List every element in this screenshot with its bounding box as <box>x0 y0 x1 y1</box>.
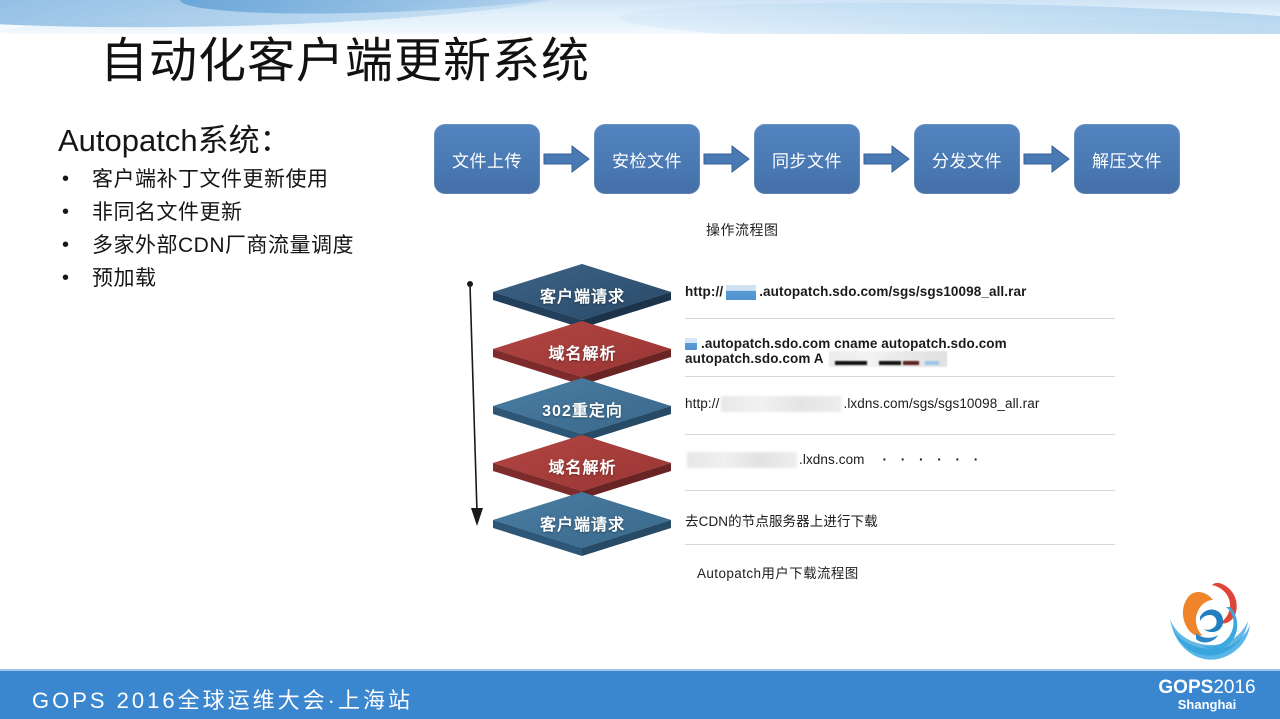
operation-flow-diagram: 文件上传 安检文件 同步文件 分发文件 解压文件 <box>434 124 1180 194</box>
domain-suffix: .lxdns.com <box>799 452 865 467</box>
footer-bar: GOPS 2016全球运维大会·上海站 <box>0 669 1280 719</box>
list-item: • 非同名文件更新 <box>62 196 354 229</box>
footer-conference-title: GOPS 2016全球运维大会·上海站 <box>32 683 413 715</box>
bullet-marker-icon: • <box>62 229 92 262</box>
dns-a-record: autopatch.sdo.com A <box>685 351 827 366</box>
gops-logo-text: GOPS2016 <box>1158 678 1255 697</box>
detail-row-4-line: .lxdns.com· · · · · · <box>685 452 983 468</box>
download-flow-diagram: 客户端请求 域名解析 302重定向 <box>455 262 1155 562</box>
detail-row-3-line: http://.lxdns.com/sgs/sgs10098_all.rar <box>685 396 1039 412</box>
redaction-blur-mixed <box>829 351 947 367</box>
download-diagram-caption: Autopatch用户下载流程图 <box>697 562 859 582</box>
flow-arrow-icon <box>540 142 594 176</box>
detail-row-1: http://.autopatch.sdo.com/sgs/sgs10098_a… <box>685 284 1026 300</box>
detail-row-5-line: 去CDN的节点服务器上进行下载 <box>685 510 878 530</box>
gops-logo-city: Shanghai <box>1178 697 1237 712</box>
list-item: • 多家外部CDN厂商流量调度 <box>62 229 354 262</box>
ellipsis-dots: · · · · · · <box>883 452 984 467</box>
row-separator <box>685 434 1115 435</box>
gops-swirl-icon <box>1160 573 1256 669</box>
dns-cname-record: .autopatch.sdo.com cname autopatch.sdo.c… <box>701 336 1007 351</box>
url-suffix: .autopatch.sdo.com/sgs/sgs10098_all.rar <box>759 284 1026 299</box>
header-decoration-band <box>0 0 1280 34</box>
detail-row-1-line: http://.autopatch.sdo.com/sgs/sgs10098_a… <box>685 284 1026 300</box>
gops-logo-plate: GOPS2016 Shanghai <box>1146 671 1268 719</box>
url-prefix: http:// <box>685 284 723 299</box>
bullet-marker-icon: • <box>62 163 92 196</box>
list-item-label: 客户端补丁文件更新使用 <box>92 163 329 196</box>
detail-row-3: http://.lxdns.com/sgs/sgs10098_all.rar <box>685 396 1039 412</box>
url-suffix: .lxdns.com/sgs/sgs10098_all.rar <box>843 396 1039 411</box>
list-item-label: 预加载 <box>92 262 157 295</box>
bullet-marker-icon: • <box>62 262 92 295</box>
flow-arrow-icon <box>860 142 914 176</box>
sequence-down-arrow-icon <box>459 280 485 533</box>
detail-row-2-line-1: .autopatch.sdo.com cname autopatch.sdo.c… <box>685 336 1007 351</box>
redaction-blur <box>721 396 841 412</box>
row-separator <box>685 376 1115 377</box>
flow-step-5: 解压文件 <box>1074 124 1180 194</box>
detail-row-4: .lxdns.com· · · · · · <box>685 452 983 468</box>
redaction-blue-square <box>685 338 697 350</box>
detail-row-5: 去CDN的节点服务器上进行下载 <box>685 510 878 530</box>
redaction-blue-bar <box>726 285 756 300</box>
list-item: • 预加载 <box>62 262 354 295</box>
gops-logo-name: GOPS <box>1158 677 1213 698</box>
list-item: • 客户端补丁文件更新使用 <box>62 163 354 196</box>
header-swoosh-3 <box>620 0 1280 34</box>
flow-step-1: 文件上传 <box>434 124 540 194</box>
bullet-marker-icon: • <box>62 196 92 229</box>
row-separator <box>685 544 1115 545</box>
redaction-blur <box>687 452 797 468</box>
row-separator <box>685 318 1115 319</box>
stack-layer-5: 客户端请求 <box>485 490 680 556</box>
row-separator <box>685 490 1115 491</box>
layer-plate-icon <box>485 490 680 556</box>
flow-step-3: 同步文件 <box>754 124 860 194</box>
flow-arrow-icon <box>1020 142 1074 176</box>
flow-step-4: 分发文件 <box>914 124 1020 194</box>
detail-row-2: .autopatch.sdo.com cname autopatch.sdo.c… <box>685 336 1007 367</box>
flow-step-2: 安检文件 <box>594 124 700 194</box>
gops-logo-year: 2016 <box>1213 677 1255 698</box>
flow-diagram-caption: 操作流程图 <box>706 220 779 240</box>
autopatch-heading: Autopatch系统： <box>58 122 291 160</box>
slide-title: 自动化客户端更新系统 <box>100 33 590 91</box>
list-item-label: 非同名文件更新 <box>92 196 243 229</box>
bullet-list: • 客户端补丁文件更新使用 • 非同名文件更新 • 多家外部CDN厂商流量调度 … <box>62 163 354 295</box>
url-prefix: http:// <box>685 396 719 411</box>
list-item-label: 多家外部CDN厂商流量调度 <box>92 229 354 262</box>
flow-arrow-icon <box>700 142 754 176</box>
gops-logo: GOPS2016 Shanghai <box>1146 569 1268 719</box>
detail-row-2-line-2: autopatch.sdo.com A <box>685 351 1007 367</box>
